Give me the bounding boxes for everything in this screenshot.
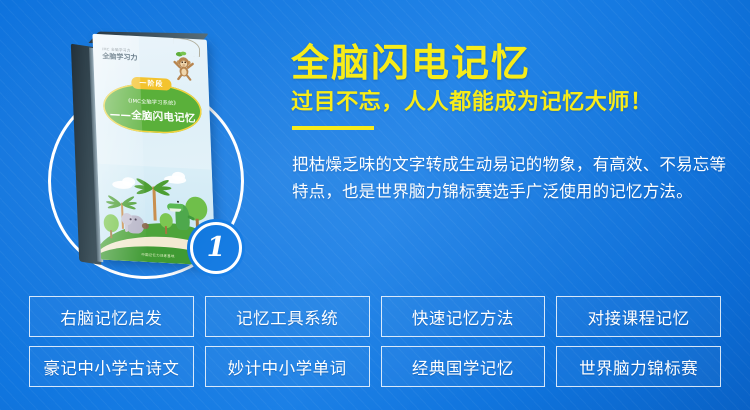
step-badge-number: 1 [207,234,226,261]
monkey-icon [170,50,201,82]
feature-label: 世界脑力锦标赛 [579,355,698,379]
tree-trunk [110,230,112,238]
cover-brand-large: 全脑学习力 [102,53,137,62]
feature-chip[interactable]: 对接课程记忆 [556,296,721,337]
feature-grid: 右脑记忆启发 记忆工具系统 快速记忆方法 对接课程记忆 豪记中小学古诗文 妙计中… [29,296,721,387]
feature-label: 妙计中小学单词 [228,355,347,379]
cloud-icon [122,177,135,187]
feature-label: 豪记中小学古诗文 [43,355,179,379]
palm-tree-icon [97,164,211,170]
palm-tree-icon [97,164,211,170]
feature-chip[interactable]: 右脑记忆启发 [29,296,194,337]
feature-label: 右脑记忆启发 [60,305,162,329]
feature-chip[interactable]: 豪记中小学古诗文 [29,346,194,387]
feature-label: 快速记忆方法 [412,305,514,329]
promo-banner: IMC 全脑学习力 全脑学习力 一阶段 《IMC全脑学习系统》 ——全脑闪电记忆 [0,0,750,410]
body-paragraph: 把枯燥乏味的文字转成生动易记的物象，有高效、不易忘等特点，也是世界脑力锦标赛选手… [292,152,728,205]
cover-title-plate: 一阶段 《IMC全脑学习系统》 ——全脑闪电记忆 [102,82,202,135]
feature-label: 经典国学记忆 [412,355,514,379]
page-title: 全脑闪电记忆 [291,44,739,82]
feature-chip[interactable]: 世界脑力锦标赛 [556,346,721,387]
feature-chip[interactable]: 经典国学记忆 [381,346,546,387]
feature-chip[interactable]: 妙计中小学单词 [205,346,370,387]
step-badge: 1 [190,222,242,274]
feature-chip[interactable]: 记忆工具系统 [205,296,370,337]
elephant-icon [97,164,211,170]
cover-stage-label: 一阶段 [131,77,172,91]
copy-block: 全脑闪电记忆 过目不忘，人人都能成为记忆大师！ 把枯燥乏味的文字转成生动易记的物… [291,44,739,205]
tree-trunk [165,226,167,234]
product-artwork: IMC 全脑学习力 全脑学习力 一阶段 《IMC全脑学习系统》 ——全脑闪电记忆 [0,0,285,300]
feature-label: 对接课程记忆 [588,305,690,329]
cloud-icon [172,172,185,182]
cover-title: ——全脑闪电记忆 [103,106,202,126]
title-underline [292,126,374,130]
feature-label: 记忆工具系统 [236,305,338,329]
feature-chip[interactable]: 快速记忆方法 [381,296,546,337]
page-subtitle: 过目不忘，人人都能成为记忆大师！ [291,91,739,115]
cover-brand-logo: IMC 全脑学习力 全脑学习力 [102,48,138,61]
crocodile-icon [97,164,211,170]
